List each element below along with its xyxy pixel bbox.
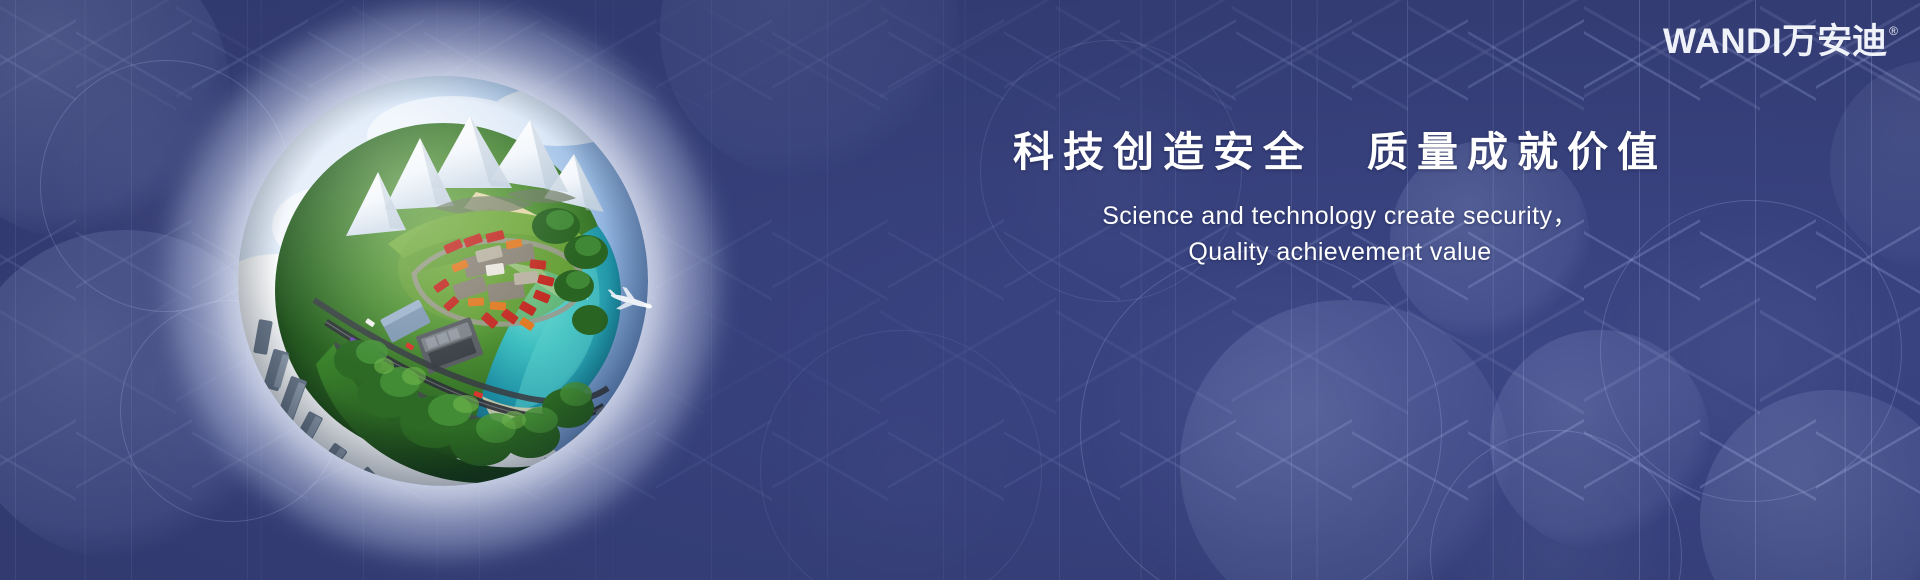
tiny-planet-globe-icon	[238, 76, 648, 486]
registered-trademark-icon: ®	[1889, 25, 1898, 37]
globe-artwork	[208, 46, 678, 516]
headline-part-1: 科技创造安全	[1013, 129, 1313, 175]
brand-logo[interactable]: WANDI 万安迪 ®	[1663, 24, 1898, 59]
subheadline-line-2: Quality achievement value	[960, 235, 1720, 271]
logo-latin-text: WANDI	[1663, 24, 1782, 59]
headline-part-2: 质量成就价值	[1367, 129, 1667, 175]
hero-banner: 科技创造安全质量成就价值 Science and technology crea…	[0, 0, 1920, 580]
logo-chinese-text: 万安迪	[1782, 24, 1887, 59]
subheadline-line-1: Science and technology create security，	[1102, 202, 1578, 230]
airplane-icon	[603, 286, 659, 316]
headline-chinese: 科技创造安全质量成就价值	[960, 128, 1720, 177]
marketing-copy: 科技创造安全质量成就价值 Science and technology crea…	[960, 128, 1720, 270]
subheadline-english: Science and technology create security， …	[960, 199, 1720, 270]
